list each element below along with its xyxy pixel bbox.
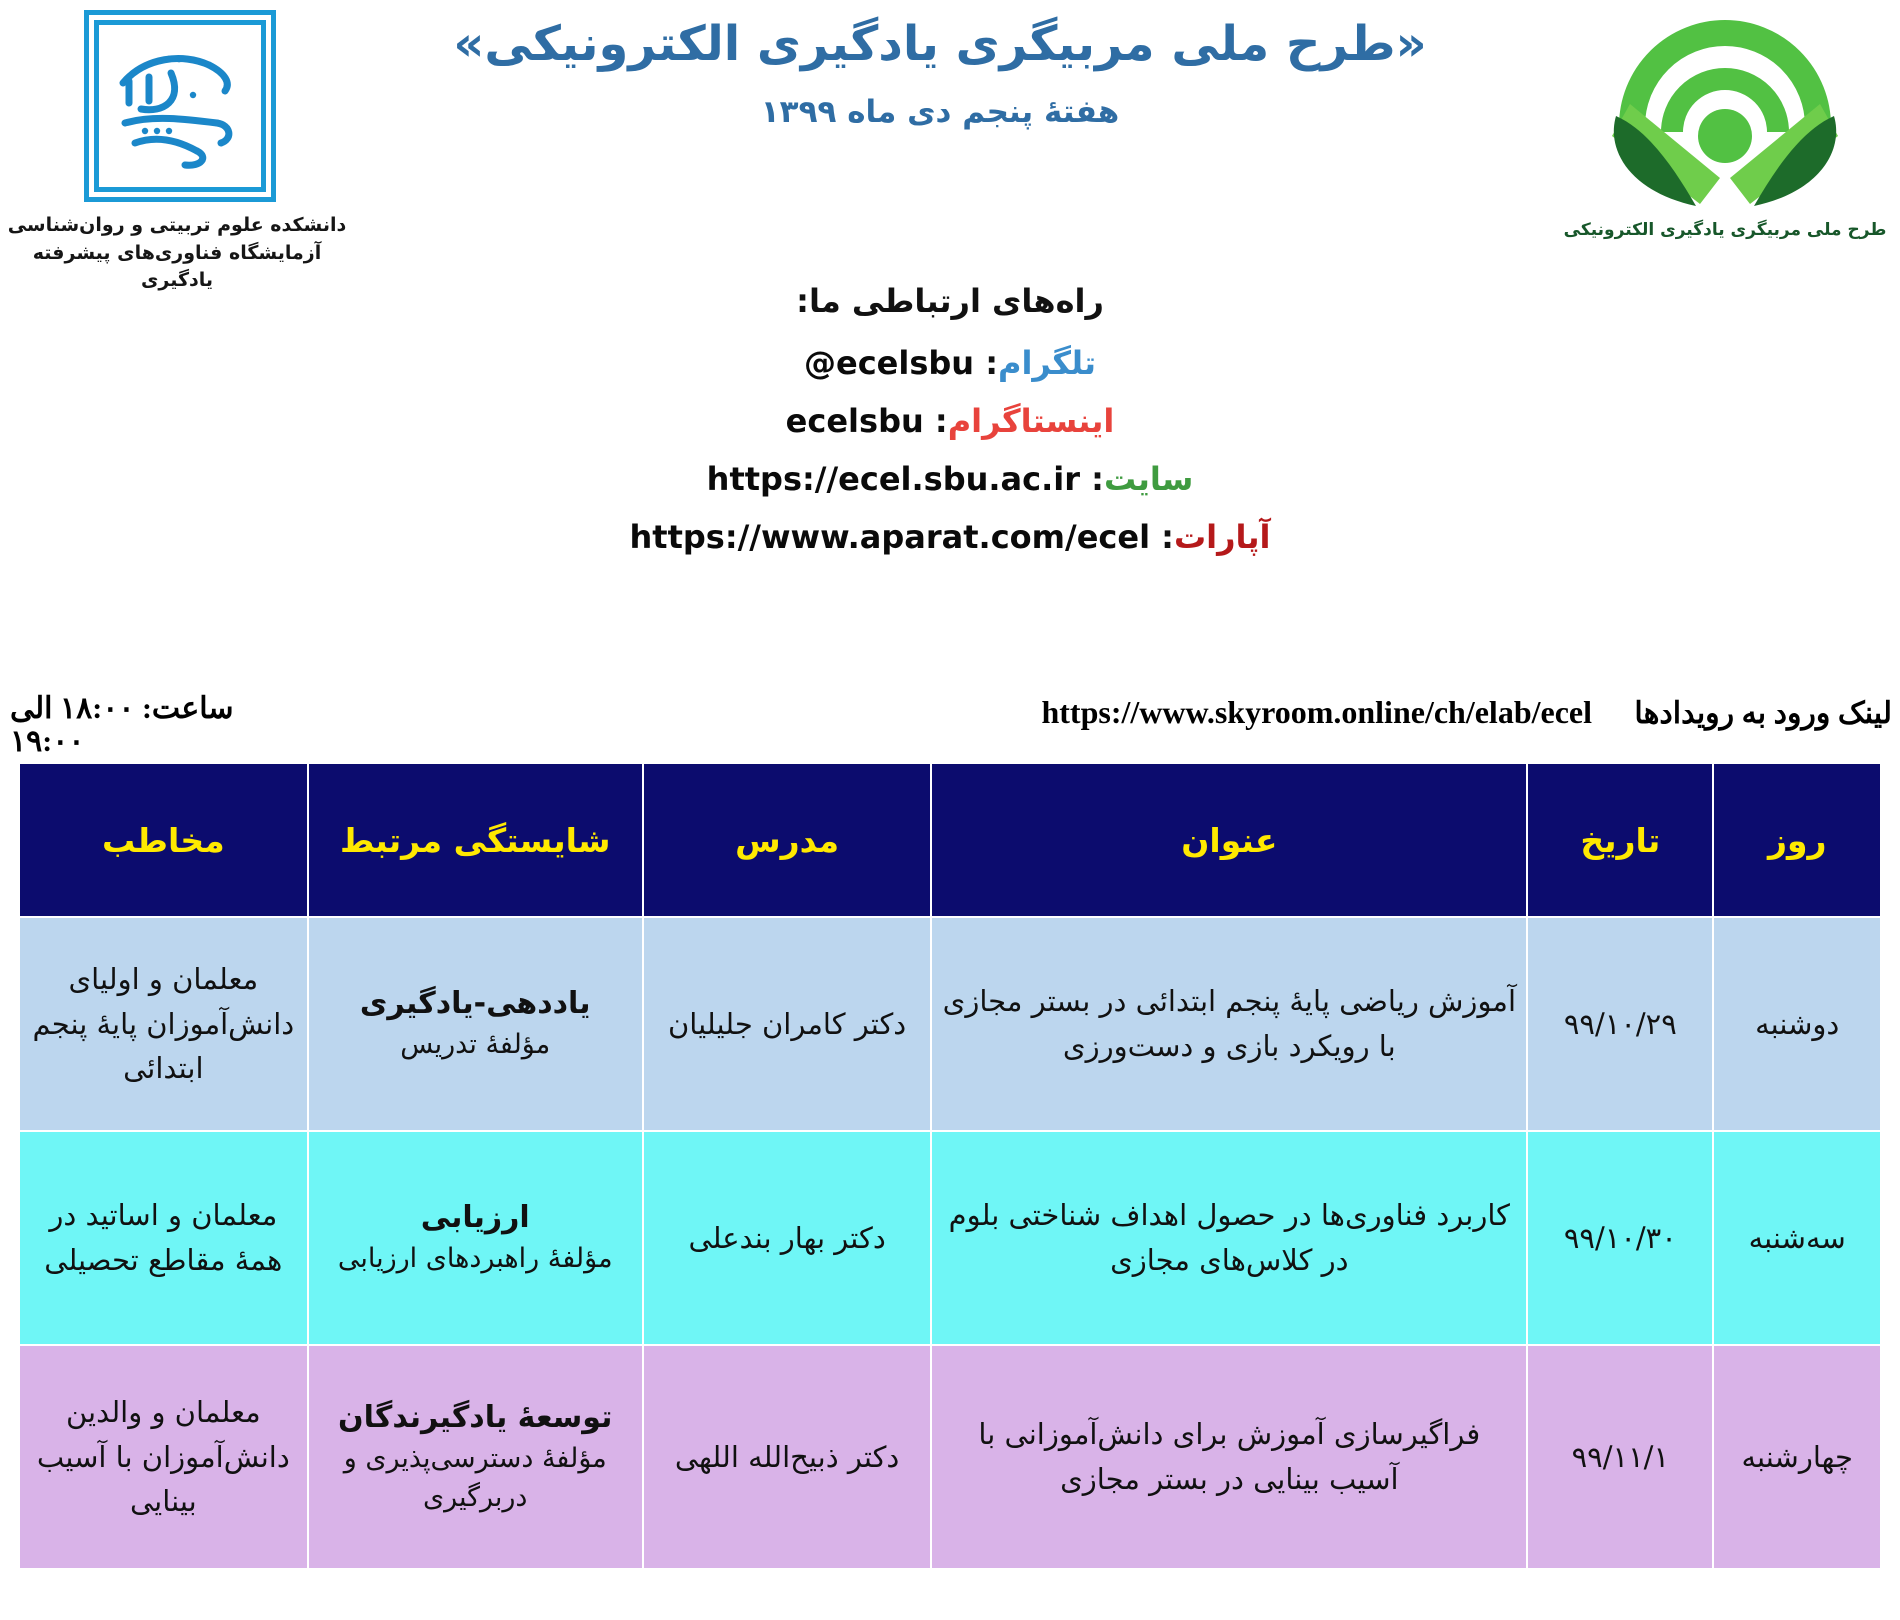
event-time: ساعت: ۱۸:۰۰ الی ۱۹:۰۰ [10,692,234,758]
cell-teacher: دکتر بهار بندعلی [643,1131,932,1345]
competency-main: توسعهٔ یادگیرندگان [317,1397,634,1439]
site-url[interactable]: https://ecel.sbu.ac.ir [707,463,1080,495]
ecel-caption: طرح ملی مربیگری یادگیری الکترونیکی [1560,220,1890,240]
cell-competency: توسعهٔ یادگیرندگان مؤلفهٔ دسترسی‌پذیری و… [308,1345,643,1569]
cell-teacher: دکتر کامران جلیلیان [643,917,932,1131]
cell-title: فراگیرسازی آموزش برای دانش‌آموزانی با آس… [931,1345,1527,1569]
ecel-branding-block: طرح ملی مربیگری یادگیری الکترونیکی [1560,8,1890,240]
telegram-value[interactable]: @ecelsbu [804,347,974,379]
contact-aparat-row: آپارات: https://www.aparat.com/ecel [0,521,1900,553]
column-header-day: روز [1713,763,1881,917]
contact-heading: راه‌های ارتباطی ما: [0,285,1900,317]
competency-sub: مؤلفهٔ راهبردهای ارزیابی [317,1239,634,1278]
event-link-url[interactable]: https://www.skyroom.online/ch/elab/ecel [1041,694,1592,731]
cell-day: دوشنبه [1713,917,1881,1131]
ecel-logo-icon [1600,8,1850,218]
cell-title: آموزش ریاضی پایهٔ پنجم ابتدائی در بستر م… [931,917,1527,1131]
sbu-calligraphy-icon [105,31,255,181]
cell-competency: یاددهی-یادگیری مؤلفهٔ تدریس [308,917,643,1131]
column-header-title: عنوان [931,763,1527,917]
column-header-competency: شایستگی مرتبط [308,763,643,917]
sbu-logo-icon [84,10,276,202]
instagram-value[interactable]: ecelsbu [786,405,924,437]
event-time-label: ساعت: ۱۸:۰۰ الی [10,692,234,725]
title-block: «طرح ملی مربیگری یادگیری الکترونیکی» هفت… [380,14,1500,130]
instagram-label: اینستاگرام [948,402,1115,440]
table-row: سه‌شنبه ۹۹/۱۰/۳۰ کاربرد فناوری‌ها در حصو… [19,1131,1881,1345]
column-header-audience: مخاطب [19,763,308,917]
cell-audience: معلمان و اساتید در همهٔ مقاطع تحصیلی [19,1131,308,1345]
competency-main: یاددهی-یادگیری [317,983,634,1025]
event-time-value: ۱۹:۰۰ [10,725,84,758]
table-header-row: روز تاریخ عنوان مدرس شایستگی مرتبط مخاطب [19,763,1881,917]
cell-teacher: دکتر ذبیح‌الله اللهی [643,1345,932,1569]
aparat-colon: : [1161,518,1174,556]
competency-sub: مؤلفهٔ تدریس [317,1025,634,1064]
table-row: چهارشنبه ۹۹/۱۱/۱ فراگیرسازی آموزش برای د… [19,1345,1881,1569]
faculty-name-line1: دانشکده علوم تربیتی و روان‌شناسی [0,212,354,240]
schedule-table-wrap: روز تاریخ عنوان مدرس شایستگی مرتبط مخاطب… [18,762,1882,1570]
contact-instagram-row: اینستاگرام: ecelsbu [0,405,1900,437]
poster-header: دانشکده علوم تربیتی و روان‌شناسی آزمایشگ… [0,0,1900,300]
competency-sub: مؤلفهٔ دسترسی‌پذیری و دربرگیری [317,1439,634,1517]
cell-day: سه‌شنبه [1713,1131,1881,1345]
cell-audience: معلمان و اولیای دانش‌آموزان پایهٔ پنجم ا… [19,917,308,1131]
contact-block: راه‌های ارتباطی ما: تلگرام: @ecelsbu این… [0,285,1900,579]
contact-telegram-row: تلگرام: @ecelsbu [0,347,1900,379]
aparat-label: آپارات [1174,518,1271,556]
cell-day: چهارشنبه [1713,1345,1881,1569]
table-row: دوشنبه ۹۹/۱۰/۲۹ آموزش ریاضی پایهٔ پنجم ا… [19,917,1881,1131]
telegram-colon: : [985,344,998,382]
cell-date: ۹۹/۱۰/۳۰ [1527,1131,1713,1345]
page-title: «طرح ملی مربیگری یادگیری الکترونیکی» [380,14,1500,74]
schedule-table: روز تاریخ عنوان مدرس شایستگی مرتبط مخاطب… [18,762,1882,1570]
contact-site-row: سایت: https://ecel.sbu.ac.ir [0,463,1900,495]
aparat-url[interactable]: https://www.aparat.com/ecel [629,521,1150,553]
cell-date: ۹۹/۱۰/۲۹ [1527,917,1713,1131]
cell-audience: معلمان و والدین دانش‌آموزان با آسیب بینا… [19,1345,308,1569]
cell-date: ۹۹/۱۱/۱ [1527,1345,1713,1569]
event-link-label: لینک ورود به رویدادها [1634,696,1892,731]
site-colon: : [1091,460,1104,498]
column-header-date: تاریخ [1527,763,1713,917]
site-label: سایت [1104,460,1193,498]
event-link-row: لینک ورود به رویدادها https://www.skyroo… [0,690,1900,750]
instagram-colon: : [935,402,948,440]
competency-main: ارزیابی [317,1197,634,1239]
cell-title: کاربرد فناوری‌ها در حصول اهداف شناختی بل… [931,1131,1527,1345]
cell-competency: ارزیابی مؤلفهٔ راهبردهای ارزیابی [308,1131,643,1345]
page-subtitle: هفتهٔ پنجم دی ماه ۱۳۹۹ [380,94,1500,130]
sbu-branding-block: دانشکده علوم تربیتی و روان‌شناسی آزمایشگ… [0,0,360,295]
column-header-teacher: مدرس [643,763,932,917]
poster-page: دانشکده علوم تربیتی و روان‌شناسی آزمایشگ… [0,0,1900,1620]
telegram-label: تلگرام [998,344,1096,382]
